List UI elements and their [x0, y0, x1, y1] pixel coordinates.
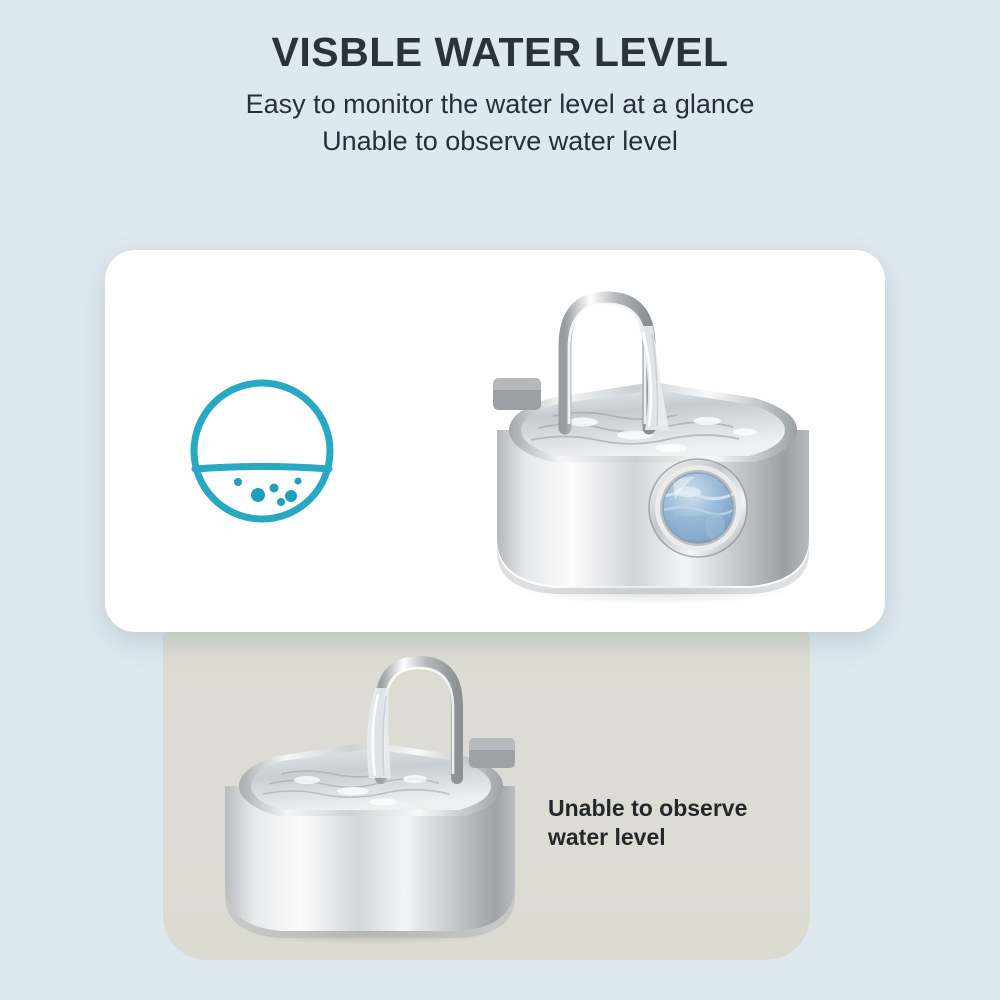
- header-subtitle-2: Unable to observe water level: [0, 123, 1000, 160]
- comparison-panel-without-window: Unable to observe water level: [163, 632, 810, 960]
- header-block: VISBLE WATER LEVEL Easy to monitor the w…: [0, 0, 1000, 159]
- no-window-caption: Unable to observe water level: [548, 794, 798, 853]
- caption-line-1: Unable to observe: [548, 794, 798, 823]
- water-level-circle-icon: [186, 378, 338, 526]
- pet-fountain-with-window-image: [483, 280, 823, 610]
- header-subtitle-1: Easy to monitor the water level at a gla…: [0, 86, 1000, 123]
- water-level-window: [649, 459, 747, 557]
- page-title: VISBLE WATER LEVEL: [0, 30, 1000, 76]
- pet-fountain-no-window-image: [203, 646, 533, 946]
- comparison-card-with-window: [105, 250, 885, 632]
- caption-line-2: water level: [548, 823, 798, 852]
